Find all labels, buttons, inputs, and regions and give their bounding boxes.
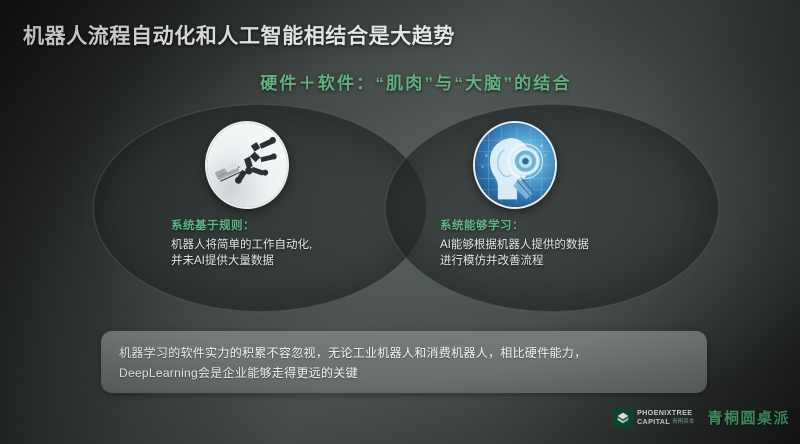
summary-note-box: 机器学习的软件实力的积累不容忽视，无论工业机器人和消费机器人，相比硬件能力， D… bbox=[101, 331, 707, 393]
brand-name-cn: 青桐圆桌派 bbox=[707, 407, 790, 428]
venn-caption-left: 系统基于规则： 机器人将简单的工作自动化, 并未AI提供大量数据 bbox=[171, 217, 312, 269]
venn-left-line-2: 并未AI提供大量数据 bbox=[171, 253, 312, 269]
ai-brain-icon bbox=[475, 123, 555, 207]
logo-line-2-row: CAPITAL 青桐资本 bbox=[637, 418, 694, 427]
robot-hand-icon bbox=[207, 123, 287, 207]
footer-logo: PHOENIXTREE CAPITAL 青桐资本 青桐圆桌派 bbox=[613, 407, 790, 428]
slide-root: 机器人流程自动化和人工智能相结合是大趋势 硬件＋软件：“肌肉”与“大脑”的结合 bbox=[0, 0, 800, 444]
robot-hand-image bbox=[205, 121, 289, 209]
venn-left-line-1: 机器人将简单的工作自动化, bbox=[171, 237, 312, 253]
diamond-box-icon bbox=[616, 411, 630, 425]
ai-head-image bbox=[473, 121, 557, 209]
venn-left-heading: 系统基于规则： bbox=[171, 217, 312, 233]
summary-note-line-2: DeepLearning会是企业能够走得更远的关键 bbox=[119, 363, 689, 383]
phoenixtree-wordmark: PHOENIXTREE CAPITAL 青桐资本 bbox=[637, 409, 694, 426]
venn-right-heading: 系统能够学习： bbox=[440, 217, 589, 233]
phoenixtree-badge-icon bbox=[613, 408, 633, 428]
logo-cn-small: 青桐资本 bbox=[672, 418, 694, 427]
summary-note-line-1: 机器学习的软件实力的积累不容忽视，无论工业机器人和消费机器人，相比硬件能力， bbox=[119, 343, 689, 363]
venn-right-line-1: AI能够根据机器人提供的数据 bbox=[440, 237, 589, 253]
venn-right-line-2: 进行模仿并改善流程 bbox=[440, 253, 589, 269]
venn-caption-right: 系统能够学习： AI能够根据机器人提供的数据 进行模仿并改善流程 bbox=[440, 217, 589, 269]
logo-line-2: CAPITAL bbox=[637, 418, 670, 427]
